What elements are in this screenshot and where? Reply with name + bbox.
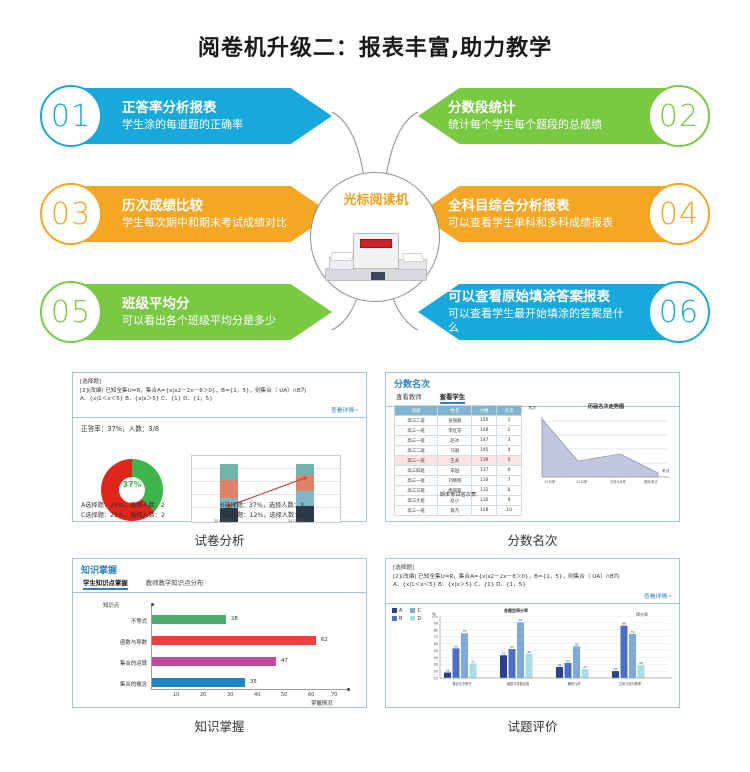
- xtick-10: 10: [173, 692, 179, 698]
- accuracy-donut-value: 37%: [101, 480, 163, 489]
- panel-caption-score-rank: 分数名次: [385, 530, 680, 549]
- table-cell: 4: [497, 446, 522, 456]
- xtick-20: 20: [200, 692, 206, 698]
- table-row[interactable]: 高三一班刘晓明1347: [395, 476, 522, 486]
- legend-a: A: [399, 608, 402, 614]
- table-cell: 128: [472, 506, 497, 516]
- bar-label-4: 不等式: [91, 617, 147, 625]
- svg-text:100: 100: [432, 616, 438, 619]
- feature-title-04: 全科目综合分析报表: [448, 198, 634, 215]
- svg-text:50: 50: [434, 649, 438, 653]
- hbar-value-1: 35: [250, 679, 257, 685]
- item-bar-b-3: [621, 626, 628, 678]
- feature-ribbon-04[interactable]: 全科目综合分析报表 可以查看学生单科和多科成绩报表: [418, 186, 676, 242]
- option-stat-d: D选择题：12%，选择人数：1: [220, 511, 359, 521]
- option-stat-b: B选择题：37%，选择人数：3: [220, 501, 359, 511]
- knowledge-heading: 知识掌握: [73, 559, 366, 578]
- svg-text:32: 32: [566, 659, 570, 663]
- item-bar-a-2: [556, 667, 563, 678]
- view-detail-link-2[interactable]: 查看详情~: [393, 591, 672, 600]
- rank-x-3: 次年3月考: [610, 479, 626, 484]
- feature-subtitle-06: 可以查看学生最开始填涂的答案是什么: [448, 307, 634, 336]
- hbar-value-2: 47: [281, 658, 288, 664]
- svg-text:20: 20: [434, 670, 438, 674]
- col-rank: 名次: [497, 406, 522, 416]
- xtick-40: 40: [254, 692, 260, 698]
- score-rank-table-caption: 期末考试名次表: [394, 491, 522, 498]
- item-bar-c-3: [629, 634, 636, 678]
- item-bar-d-2: [582, 669, 589, 678]
- feature-number-04: 04: [648, 183, 710, 245]
- feature-ribbon-01[interactable]: 正答率分析报表 学生涂的每道题的正确率: [74, 88, 332, 144]
- legend-c: C: [417, 608, 421, 614]
- question-line2-1: A．{x|1＜x＜5} B．{x|x＞5} C．{1} D．{1，5}: [80, 395, 359, 404]
- panel-caption-item-evaluation: 试题评价: [385, 716, 680, 735]
- table-cell: 145: [472, 446, 497, 456]
- table-cell: 高三一班: [395, 436, 438, 446]
- table-cell: 高三二班: [395, 416, 438, 426]
- page-title: 阅卷机升级二：报表丰富,助力教学: [0, 30, 750, 62]
- legend-b: B: [399, 616, 402, 622]
- table-cell: 张丽丽: [438, 416, 472, 426]
- bar-label-1: 集合的概念: [83, 680, 147, 688]
- optical-mark-reader-icon: [325, 219, 427, 281]
- table-row[interactable]: 高三一班赵冰1473: [395, 436, 522, 446]
- view-detail-link-1[interactable]: 查看详情~: [80, 405, 359, 414]
- table-cell: 马丽: [438, 446, 472, 456]
- svg-text:23: 23: [583, 665, 587, 669]
- table-cell: 137: [472, 466, 497, 476]
- feature-number-01: 01: [40, 85, 102, 147]
- knowledge-tabs[interactable]: 学生知识点掌握 教师教学知识点分布: [73, 578, 366, 593]
- option-stats-grid: A选择题：25%，选择人数：2 B选择题：37%，选择人数：3 C选择题：25%…: [81, 501, 359, 521]
- svg-text:30: 30: [434, 663, 438, 667]
- feature-subtitle-01: 学生涂的每道题的正确率: [122, 118, 306, 132]
- accuracy-summary: 正答率：37%，人数：3/8: [81, 423, 366, 433]
- table-cell: 3: [497, 436, 522, 446]
- panel-caption-paper-analysis: 试卷分析: [72, 530, 367, 549]
- table-cell: 高三一班: [395, 476, 438, 486]
- item-bar-d-0: [470, 664, 477, 678]
- feature-ribbon-03[interactable]: 历次成绩比较 学生每次期中和期末考试成绩对比: [74, 186, 332, 242]
- knowledge-ylabel: 知识点: [103, 601, 119, 609]
- svg-text:18: 18: [446, 668, 450, 672]
- col-class: 班级: [395, 406, 438, 416]
- bar-label-2: 集合的运算: [83, 659, 147, 667]
- svg-text:26: 26: [558, 663, 562, 667]
- question-line1-2: [2](改编) 已知全集U=R，集合A={x|x2－2x－8＞0}，B={1，5…: [393, 573, 672, 582]
- svg-text:45: 45: [527, 650, 531, 654]
- table-cell: 高三二班: [395, 446, 438, 456]
- question-block-1: [选择题] [2](改编) 已知全集U=R，集合A={x|x2－2x－8＞0}，…: [73, 373, 366, 418]
- table-cell: 李红花: [438, 426, 472, 436]
- rank-xlabel: 考试: [662, 469, 669, 474]
- table-cell: 147: [472, 436, 497, 446]
- question-line2-2: A．{x|1＜x＜5} B．{x|x＞5} C．{1} D．{1，5}: [393, 581, 672, 590]
- svg-text:函数与导数应用: 函数与导数应用: [507, 681, 529, 686]
- table-row[interactable]: 高三二班张丽丽1501: [395, 416, 522, 426]
- feature-subtitle-04: 可以查看学生单科和多科成绩报表: [448, 216, 634, 230]
- item-bar-a-3: [612, 671, 619, 678]
- hbar-set-operations: [152, 657, 276, 666]
- svg-text:86: 86: [622, 622, 626, 626]
- xtick-30: 30: [227, 692, 233, 698]
- option-stat-a: A选择题：25%，选择人数：2: [81, 501, 220, 511]
- table-cell: 148: [472, 426, 497, 436]
- svg-text:立体几何与概率: 立体几何与概率: [619, 681, 642, 686]
- item-bar-b-1: [509, 649, 516, 678]
- svg-text:40: 40: [434, 656, 438, 660]
- hbar-functions: [152, 636, 316, 645]
- hbar-value-3: 62: [321, 637, 328, 643]
- svg-text:56: 56: [575, 642, 579, 646]
- svg-text:31: 31: [471, 660, 475, 664]
- svg-text:70: 70: [434, 635, 438, 639]
- feature-title-01: 正答率分析报表: [122, 100, 306, 117]
- feature-title-03: 历次成绩比较: [122, 198, 306, 215]
- table-cell: 宋园: [438, 466, 472, 476]
- feature-number-02: 02: [648, 85, 710, 147]
- feature-subtitle-03: 学生每次期中和期末考试成绩对比: [122, 216, 306, 230]
- legend-d: D: [417, 616, 421, 622]
- question-tag-1: [选择题]: [80, 378, 359, 387]
- question-tag-2: [选择题]: [393, 564, 672, 573]
- table-cell: 139: [472, 456, 497, 466]
- panel-caption-knowledge: 知识掌握: [72, 716, 367, 735]
- table-row[interactable]: 高三二班马丽1454: [395, 446, 522, 456]
- table-header-row: 班级 姓名 分数 名次: [395, 406, 522, 416]
- item-bar-c-0: [461, 633, 468, 678]
- svg-text:52: 52: [510, 645, 514, 649]
- tab-student-knowledge[interactable]: 学生知识点掌握: [83, 578, 128, 590]
- table-cell: 高三四班: [395, 466, 438, 476]
- rank-trend-title: 历届名次走势图: [536, 403, 676, 410]
- svg-text:集合与不等式: 集合与不等式: [452, 681, 472, 686]
- tab-view-student[interactable]: 查看学生: [440, 392, 466, 404]
- svg-text:43: 43: [502, 651, 506, 655]
- svg-text:91: 91: [519, 618, 523, 622]
- svg-text:解析几何: 解析几何: [568, 681, 582, 686]
- table-cell: 赵冰: [438, 436, 472, 446]
- tab-teacher-knowledge[interactable]: 教师教学知识点分布: [146, 578, 204, 590]
- table-row[interactable]: 高三一班王永1395: [395, 456, 522, 466]
- question-block-2: [选择题] [2](改编) 已知全集U=R，集合A={x|x2－2x－8＞0}，…: [386, 559, 679, 604]
- center-label: 光标阅读机: [311, 189, 441, 208]
- table-cell: 10: [497, 506, 522, 516]
- feature-ribbon-02[interactable]: 分数段统计 统计每个学生每个题段的总成绩: [418, 88, 676, 144]
- svg-text:90: 90: [434, 621, 438, 625]
- tab-view-teacher[interactable]: 查看教师: [396, 392, 422, 404]
- hbar-set-concept: [152, 678, 245, 687]
- svg-text:10: 10: [434, 676, 438, 680]
- panel-knowledge[interactable]: 知识掌握 学生知识点掌握 教师教学知识点分布 知识点 不等式 28 函数与导数 …: [72, 558, 367, 708]
- svg-text:74: 74: [631, 630, 635, 634]
- knowledge-xlabel: 掌握情况: [311, 699, 333, 707]
- item-bar-a-1: [500, 655, 507, 678]
- svg-text:75: 75: [463, 629, 467, 633]
- panel-score-rank[interactable]: 分数名次 查看教师 查看学生 班级 姓名 分数 名次 高三二班张丽丽1501高三…: [385, 372, 680, 522]
- item-bar-c-2: [573, 646, 580, 678]
- table-cell: 150: [472, 416, 497, 426]
- feature-title-02: 分数段统计: [448, 100, 634, 117]
- hbar-value-4: 28: [231, 616, 238, 622]
- feature-number-06: 06: [648, 281, 710, 343]
- svg-text:53: 53: [454, 644, 458, 648]
- panel-item-evaluation[interactable]: [选择题] [2](改编) 已知全集U=R，集合A={x|x2－2x－8＞0}，…: [385, 558, 680, 708]
- table-cell: 王永: [438, 456, 472, 466]
- table-cell: 7: [497, 476, 522, 486]
- table-cell: 5: [497, 456, 522, 466]
- rank-x-1: 10月考: [544, 479, 555, 484]
- knowledge-chart: 知识点 不等式 28 函数与导数 62 集合的运算 47 集合的概念 35 10…: [73, 593, 366, 711]
- item-evaluation-chart: A B C D 各题型得分率 得分率 % 1020304050607080901…: [386, 604, 679, 696]
- feature-number-05: 05: [40, 281, 102, 343]
- table-row[interactable]: 高三四班宋园1376: [395, 466, 522, 476]
- screenshot-panels: [选择题] [2](改编) 已知全集U=R，集合A={x|x2－2x－8＞0}，…: [0, 368, 750, 728]
- xtick-60: 60: [308, 692, 314, 698]
- option-stat-c: C选择题：25%，选择人数：2: [81, 511, 220, 521]
- item-bar-c-1: [517, 622, 524, 678]
- feature-ribbon-06[interactable]: 可以查看原始填涂答案报表 可以查看学生最开始填涂的答案是什么: [418, 284, 676, 340]
- table-cell: 6: [497, 466, 522, 476]
- table-row[interactable]: 高三一班李红花1482: [395, 426, 522, 436]
- svg-text:80: 80: [434, 628, 438, 632]
- item-legend: A B C D: [392, 608, 421, 624]
- center-node: 光标阅读机: [310, 172, 440, 302]
- rank-trend-chart: 名次 10月考 12月考 次年3月考 期末考试 考试: [530, 413, 672, 491]
- rank-ylabel: 名次: [528, 405, 536, 411]
- score-rank-table: 班级 姓名 分数 名次 高三二班张丽丽1501高三一班李红花1482高三一班赵冰…: [394, 405, 522, 516]
- table-cell: 蔡凡: [438, 506, 472, 516]
- svg-text:60: 60: [434, 642, 438, 646]
- svg-text:20: 20: [614, 667, 618, 671]
- panel-paper-analysis[interactable]: [选择题] [2](改编) 已知全集U=R，集合A={x|x2－2x－8＞0}，…: [72, 372, 367, 522]
- score-rank-heading: 分数名次: [386, 373, 679, 392]
- xtick-70: 70: [331, 692, 337, 698]
- item-bar-b-0: [453, 648, 460, 678]
- feature-subtitle-05: 可以看出各个班级平均分是多少: [122, 314, 306, 328]
- item-bar-d-3: [638, 665, 645, 678]
- table-cell: 高三一班: [395, 506, 438, 516]
- table-cell: 高三一班: [395, 426, 438, 436]
- feature-diagram: 正答率分析报表 学生涂的每道题的正确率 01 分数段统计 统计每个学生每个题段的…: [0, 82, 750, 362]
- feature-subtitle-02: 统计每个学生每个题段的总成绩: [448, 118, 634, 132]
- table-cell: 1: [497, 416, 522, 426]
- feature-number-03: 03: [40, 183, 102, 245]
- question-line1-1: [2](改编) 已知全集U=R，集合A={x|x2－2x－8＞0}，B={1，5…: [80, 387, 359, 396]
- table-cell: 高三一班: [395, 456, 438, 466]
- rank-x-2: 12月考: [576, 479, 587, 484]
- svg-text:29: 29: [639, 661, 643, 665]
- table-row[interactable]: 高三一班蔡凡12810: [395, 506, 522, 516]
- col-name: 姓名: [438, 406, 472, 416]
- item-bar-a-0: [444, 672, 451, 678]
- feature-title-05: 班级平均分: [122, 296, 306, 313]
- feature-title-06: 可以查看原始填涂答案报表: [448, 289, 634, 306]
- table-cell: 刘晓明: [438, 476, 472, 486]
- rank-x-4: 期末考试: [644, 479, 658, 484]
- col-score: 分数: [472, 406, 497, 416]
- hbar-inequality: [152, 615, 226, 624]
- table-cell: 2: [497, 426, 522, 436]
- item-bar-d-1: [526, 654, 533, 678]
- table-cell: 134: [472, 476, 497, 486]
- feature-ribbon-05[interactable]: 班级平均分 可以看出各个班级平均分是多少: [74, 284, 332, 340]
- item-chart-title: 各题型得分率: [504, 608, 528, 614]
- xtick-50: 50: [281, 692, 287, 698]
- bar-label-3: 函数与导数: [83, 638, 147, 646]
- item-bar-b-2: [565, 663, 572, 678]
